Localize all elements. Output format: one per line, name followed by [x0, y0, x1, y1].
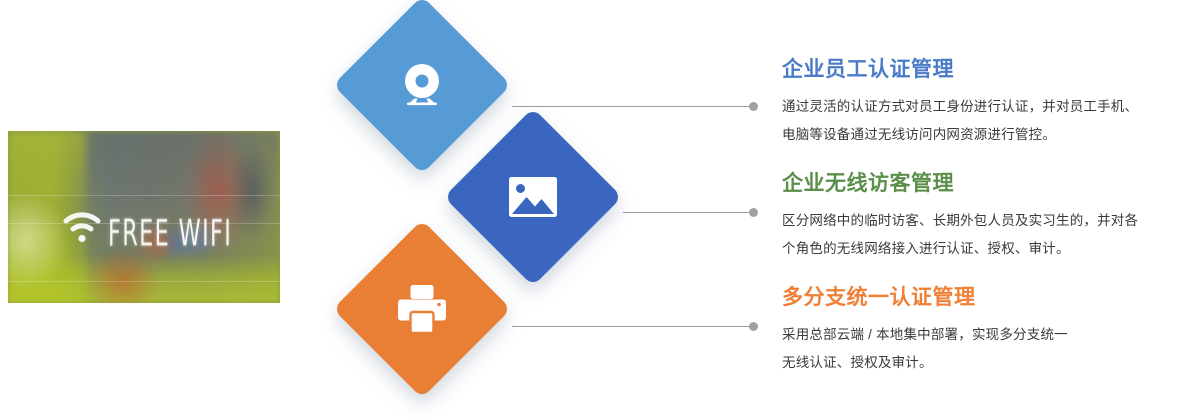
photo-seam-line [8, 195, 280, 196]
feature-title-3: 多分支统一认证管理 [782, 286, 1194, 309]
connector-dot-1 [749, 102, 758, 111]
diamond-badge-multi-branch-auth[interactable] [333, 220, 511, 398]
free-wifi-photo: FREE WIFI [8, 131, 280, 303]
diamond-badge-guest-management[interactable] [444, 108, 622, 286]
printer-icon [396, 284, 448, 334]
feature-title-2: 企业无线访客管理 [782, 172, 1194, 195]
feature-body-line: 电脑等设备通过无线访问内网资源进行管控。 [782, 121, 1194, 149]
feature-body-line: 区分网络中的临时访客、长期外包人员及实习生的，并对各 [782, 207, 1194, 235]
feature-body-3: 采用总部云端 / 本地集中部署，实现多分支统一 无线认证、授权及审计。 [782, 321, 1194, 376]
image-icon [507, 175, 559, 219]
wifi-icon [62, 209, 102, 243]
feature-block-3: 多分支统一认证管理 采用总部云端 / 本地集中部署，实现多分支统一 无线认证、授… [782, 286, 1194, 376]
connector-dot-2 [749, 208, 758, 217]
connector-line-3 [512, 326, 749, 327]
webcam-icon [395, 58, 449, 112]
feature-body-line: 无线认证、授权及审计。 [782, 349, 1194, 377]
feature-body-1: 通过灵活的认证方式对员工身份进行认证，并对员工手机、 电脑等设备通过无线访问内网… [782, 93, 1194, 148]
connector-dot-3 [749, 322, 758, 331]
feature-body-2: 区分网络中的临时访客、长期外包人员及实习生的，并对各 个角色的无线网络接入进行认… [782, 207, 1194, 262]
feature-body-line: 采用总部云端 / 本地集中部署，实现多分支统一 [782, 321, 1194, 349]
feature-block-1: 企业员工认证管理 通过灵活的认证方式对员工身份进行认证，并对员工手机、 电脑等设… [782, 58, 1194, 148]
feature-title-1: 企业员工认证管理 [782, 58, 1194, 81]
feature-block-2: 企业无线访客管理 区分网络中的临时访客、长期外包人员及实习生的，并对各 个角色的… [782, 172, 1194, 262]
feature-body-line: 通过灵活的认证方式对员工身份进行认证，并对员工手机、 [782, 93, 1194, 121]
connector-line-2 [623, 212, 749, 213]
connector-line-1 [512, 106, 749, 107]
photo-sign-text: FREE WIFI [108, 213, 232, 255]
feature-body-line: 个角色的无线网络接入进行认证、授权、审计。 [782, 235, 1194, 263]
diamond-badge-employee-auth[interactable] [333, 0, 511, 174]
photo-seam-line [8, 281, 280, 282]
